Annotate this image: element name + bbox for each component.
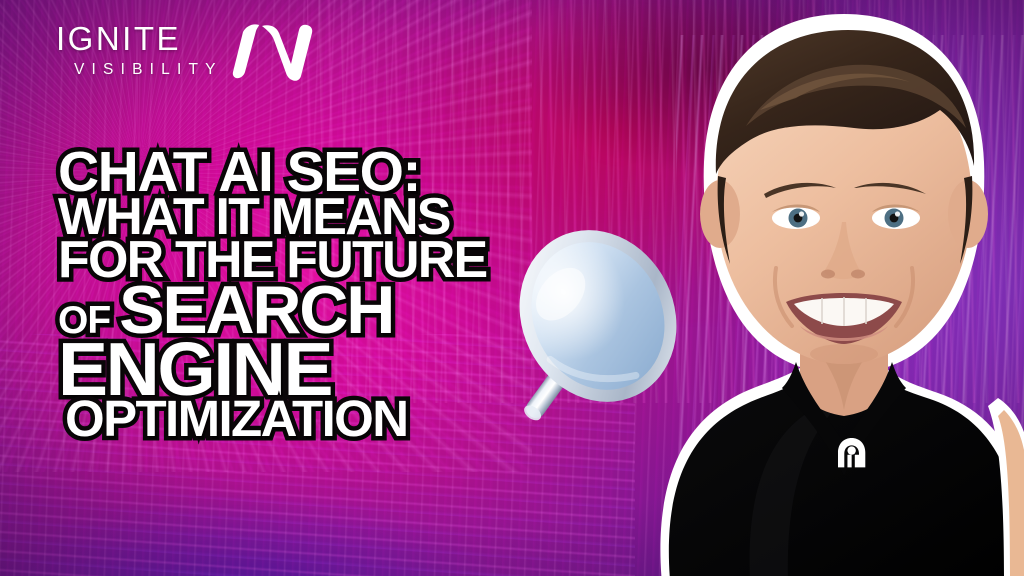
ignite-visibility-iv-monogram-icon bbox=[229, 20, 313, 87]
brand-logo: IGNITE VISIBILITY bbox=[56, 18, 313, 87]
brand-logo-primary-text: IGNITE bbox=[56, 22, 223, 55]
title-line-6: OPTIMIZATION bbox=[65, 397, 486, 441]
brand-logo-wordmark: IGNITE VISIBILITY bbox=[56, 18, 223, 78]
brand-logo-secondary-text: VISIBILITY bbox=[74, 62, 223, 78]
presenter-portrait bbox=[600, 6, 1024, 576]
video-title: CHAT AI SEO: WHAT IT MEANS FOR THE FUTUR… bbox=[58, 148, 486, 441]
thumbnail-canvas: IGNITE VISIBILITY CHAT AI SEO: WHAT IT M… bbox=[0, 0, 1024, 576]
